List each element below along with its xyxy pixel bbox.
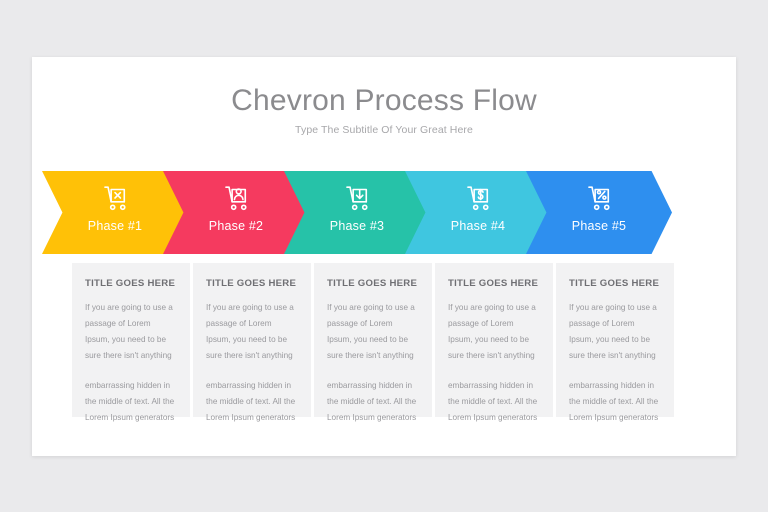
chevron-label: Phase #5: [572, 219, 626, 233]
chevron-label: Phase #3: [330, 219, 384, 233]
card-paragraph-2: embarrassing hidden in the middle of tex…: [448, 378, 540, 426]
card-paragraph-1: If you are going to use a passage of Lor…: [85, 300, 177, 364]
phase-card-2[interactable]: TITLE GOES HERE If you are going to use …: [193, 263, 311, 417]
card-title: TITLE GOES HERE: [85, 278, 177, 289]
chevron-phase-2[interactable]: Phase #2: [163, 171, 309, 254]
phase-card-5[interactable]: TITLE GOES HERE If you are going to use …: [556, 263, 674, 417]
card-paragraph-2: embarrassing hidden in the middle of tex…: [85, 378, 177, 426]
chevron-phase-3[interactable]: Phase #3: [284, 171, 430, 254]
card-title: TITLE GOES HERE: [206, 278, 298, 289]
cart-user-icon: [219, 181, 253, 215]
card-paragraph-2: embarrassing hidden in the middle of tex…: [327, 378, 419, 426]
card-paragraph-2: embarrassing hidden in the middle of tex…: [206, 378, 298, 426]
phase-card-1[interactable]: TITLE GOES HERE If you are going to use …: [72, 263, 190, 417]
phase-detail-cards: TITLE GOES HERE If you are going to use …: [32, 263, 736, 417]
phase-card-3[interactable]: TITLE GOES HERE If you are going to use …: [314, 263, 432, 417]
page-title: Chevron Process Flow: [32, 84, 736, 118]
card-paragraph-1: If you are going to use a passage of Lor…: [327, 300, 419, 364]
chevron-phase-1[interactable]: Phase #1: [42, 171, 188, 254]
chevron-process-row: Phase #1 Phase #2: [32, 171, 736, 254]
page-subtitle: Type The Subtitle Of Your Great Here: [32, 124, 736, 136]
card-paragraph-1: If you are going to use a passage of Lor…: [206, 300, 298, 364]
slide-canvas: Chevron Process Flow Type The Subtitle O…: [32, 57, 736, 456]
card-paragraph-1: If you are going to use a passage of Lor…: [448, 300, 540, 364]
card-title: TITLE GOES HERE: [448, 278, 540, 289]
cart-remove-icon: [98, 181, 132, 215]
chevron-label: Phase #4: [451, 219, 505, 233]
cart-dollar-icon: [461, 181, 495, 215]
card-title: TITLE GOES HERE: [569, 278, 661, 289]
chevron-label: Phase #2: [209, 219, 263, 233]
card-title: TITLE GOES HERE: [327, 278, 419, 289]
chevron-phase-5[interactable]: Phase #5: [526, 171, 672, 254]
cart-download-icon: [340, 181, 374, 215]
chevron-phase-4[interactable]: Phase #4: [405, 171, 551, 254]
cart-percent-icon: [582, 181, 616, 215]
card-paragraph-1: If you are going to use a passage of Lor…: [569, 300, 661, 364]
card-paragraph-2: embarrassing hidden in the middle of tex…: [569, 378, 661, 426]
chevron-label: Phase #1: [88, 219, 142, 233]
phase-card-4[interactable]: TITLE GOES HERE If you are going to use …: [435, 263, 553, 417]
